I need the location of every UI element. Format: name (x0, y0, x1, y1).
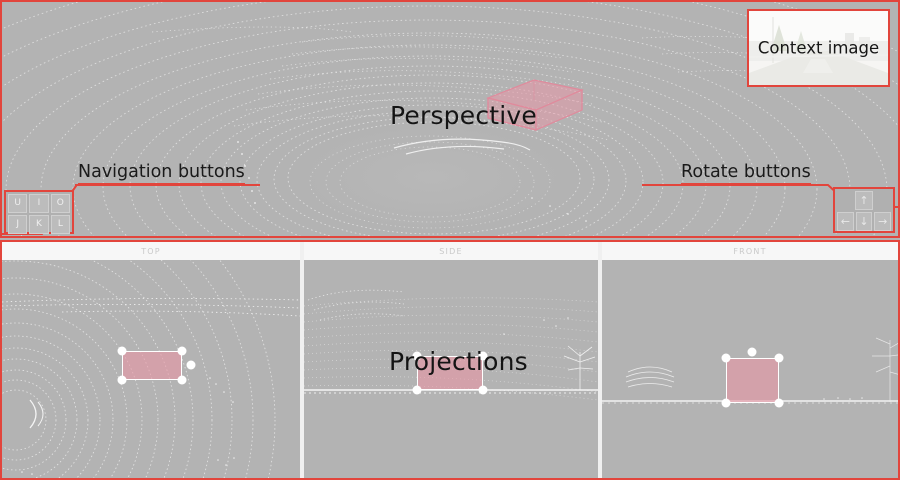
projections-caption: Projections (389, 347, 528, 376)
perspective-viewport[interactable]: Context image Perspective Navigation but… (0, 0, 900, 238)
projection-panel-top[interactable]: TOP (2, 242, 300, 478)
bbox-handle-front-tl[interactable] (722, 354, 731, 363)
bbox-handle-top-tr[interactable] (178, 347, 187, 356)
projection-header-top-label: TOP (141, 247, 161, 256)
projection-header-side: SIDE (304, 242, 598, 260)
bbox-handle-top-heading[interactable] (187, 361, 196, 370)
bounding-box-front[interactable] (726, 358, 779, 403)
arrow-down-icon[interactable]: ↓ (856, 212, 873, 231)
perspective-caption: Perspective (390, 101, 537, 130)
rotate-row-bottom: ← ↓ → (837, 212, 891, 231)
arrow-up-icon[interactable]: ↑ (855, 191, 873, 210)
bbox-handle-top-br[interactable] (178, 376, 187, 385)
projection-header-front: FRONT (602, 242, 898, 260)
bbox-handle-front-tr[interactable] (775, 354, 784, 363)
projection-header-front-label: FRONT (733, 247, 766, 256)
bbox-handle-side-bl[interactable] (413, 386, 422, 395)
bbox-handle-top-bl[interactable] (118, 376, 127, 385)
projection-panel-front[interactable]: FRONT (602, 242, 898, 478)
navigation-row-top: U I O (8, 194, 70, 213)
projection-body-top[interactable] (2, 260, 300, 478)
rotate-row-top: ↑ (837, 191, 891, 210)
annotation-tool-root: Context image Perspective Navigation but… (0, 0, 900, 480)
arrow-right-icon[interactable]: → (874, 212, 891, 231)
nav-key-j[interactable]: J (8, 215, 27, 234)
projection-header-top: TOP (2, 242, 300, 260)
projection-body-front[interactable] (602, 260, 898, 478)
bbox-handle-side-br[interactable] (479, 386, 488, 395)
context-image-panel[interactable]: Context image (747, 9, 890, 87)
navigation-buttons-group[interactable]: U I O J K L (4, 190, 74, 234)
nav-key-k[interactable]: K (29, 215, 48, 234)
nav-key-i[interactable]: I (29, 194, 48, 213)
bbox-handle-top-tl[interactable] (118, 347, 127, 356)
bbox-handle-front-top-center[interactable] (748, 348, 757, 357)
context-image-label: Context image (749, 39, 888, 58)
bbox-handle-front-bl[interactable] (722, 399, 731, 408)
projections-viewport[interactable]: TOP (0, 240, 900, 480)
nav-key-u[interactable]: U (8, 194, 27, 213)
arrow-left-icon[interactable]: ← (837, 212, 854, 231)
navigation-row-bottom: J K L (8, 215, 70, 234)
bbox-handle-front-br[interactable] (775, 399, 784, 408)
nav-key-l[interactable]: L (51, 215, 70, 234)
projection-header-side-label: SIDE (439, 247, 462, 256)
rotate-buttons-group[interactable]: ↑ ← ↓ → (833, 187, 895, 233)
bounding-box-top[interactable] (122, 351, 182, 380)
nav-key-o[interactable]: O (51, 194, 70, 213)
